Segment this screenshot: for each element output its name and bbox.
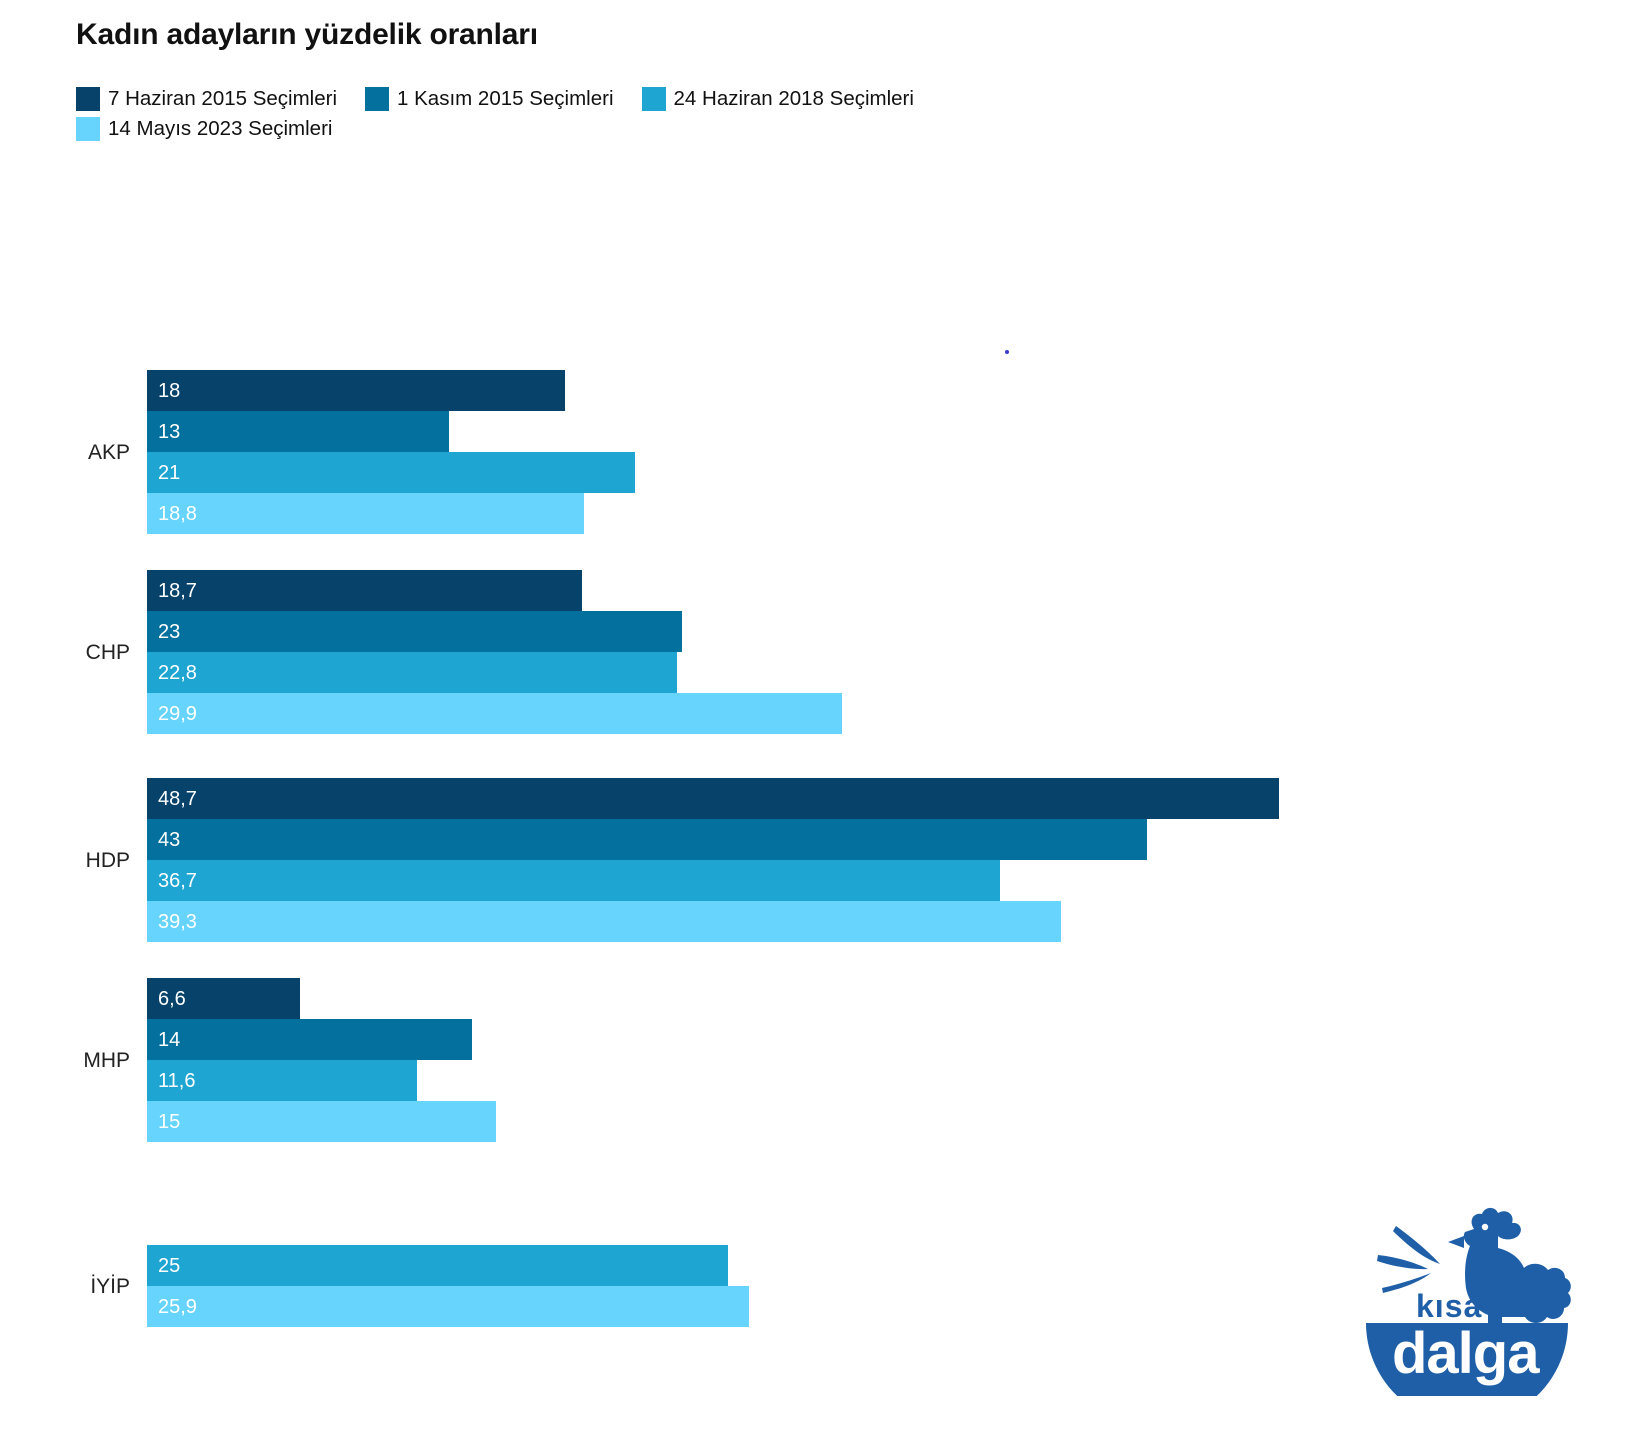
category-label-mhp: MHP bbox=[0, 1050, 130, 1071]
bar-akp-s3[interactable]: 18,8 bbox=[147, 493, 197, 534]
bar-value-label: 6,6 bbox=[147, 989, 186, 1009]
bar-hdp-s3[interactable]: 39,3 bbox=[147, 901, 197, 942]
bar-fill bbox=[147, 411, 449, 452]
bar-value-label: 21 bbox=[147, 463, 180, 483]
bar-value-label: 14 bbox=[147, 1030, 180, 1050]
bar-fill bbox=[147, 611, 682, 652]
bar-chp-s0[interactable]: 18,7 bbox=[147, 570, 197, 611]
bar-chp-s1[interactable]: 23 bbox=[147, 611, 197, 652]
bar-value-label: 15 bbox=[147, 1112, 180, 1132]
bar-chp-s2[interactable]: 22,8 bbox=[147, 652, 197, 693]
bar-fill bbox=[147, 819, 1147, 860]
bars-wrapper: 6,61411,615 bbox=[147, 978, 195, 1142]
logo-wordmark: kısa bbox=[1416, 1288, 1482, 1324]
bar-fill bbox=[147, 493, 584, 534]
category-label-akp: AKP bbox=[0, 442, 130, 463]
bar-akp-s0[interactable]: 18 bbox=[147, 370, 197, 411]
stray-dot-artifact bbox=[1005, 350, 1009, 354]
bar-fill bbox=[147, 1286, 749, 1327]
bar-fill bbox=[147, 1019, 472, 1060]
bar-hdp-s1[interactable]: 43 bbox=[147, 819, 197, 860]
bar-value-label: 13 bbox=[147, 422, 180, 442]
bar-value-label: 25,9 bbox=[147, 1297, 197, 1317]
bars-wrapper: 48,74336,739,3 bbox=[147, 778, 197, 942]
bar-value-label: 43 bbox=[147, 830, 180, 850]
bar-fill bbox=[147, 778, 1279, 819]
bar-hdp-s2[interactable]: 36,7 bbox=[147, 860, 197, 901]
bar-akp-s1[interactable]: 13 bbox=[147, 411, 197, 452]
bar-fill bbox=[147, 1101, 496, 1142]
bars-wrapper: 2525,9 bbox=[147, 1245, 197, 1327]
bar-value-label: 48,7 bbox=[147, 789, 197, 809]
bar-value-label: 18,8 bbox=[147, 504, 197, 524]
bar-hdp-s0[interactable]: 48,7 bbox=[147, 778, 197, 819]
bar-mhp-s0[interactable]: 6,6 bbox=[147, 978, 195, 1019]
category-label-chp: CHP bbox=[0, 642, 130, 663]
bar-fill bbox=[147, 1245, 728, 1286]
bar-fill bbox=[147, 693, 842, 734]
bar-value-label: 18,7 bbox=[147, 581, 197, 601]
bar-fill bbox=[147, 901, 1061, 942]
category-label-i̇yi̇p: İYİP bbox=[0, 1276, 130, 1297]
svg-text:dalga: dalga bbox=[1392, 1321, 1540, 1386]
bar-i̇yi̇p-s3[interactable]: 25,9 bbox=[147, 1286, 197, 1327]
bar-fill bbox=[147, 452, 635, 493]
bar-value-label: 29,9 bbox=[147, 704, 197, 724]
bar-value-label: 22,8 bbox=[147, 663, 197, 683]
bar-i̇yi̇p-s2[interactable]: 25 bbox=[147, 1245, 197, 1286]
bar-fill bbox=[147, 652, 677, 693]
logo-wordmark-main: dalga bbox=[1392, 1321, 1540, 1386]
bar-fill bbox=[147, 370, 565, 411]
bar-mhp-s1[interactable]: 14 bbox=[147, 1019, 195, 1060]
kisa-dalga-logo: kısa dalga bbox=[1352, 1196, 1582, 1396]
chart-container: Kadın adayların yüzdelik oranları 7 Hazi… bbox=[0, 0, 1641, 1429]
bar-fill bbox=[147, 860, 1000, 901]
bar-value-label: 25 bbox=[147, 1256, 180, 1276]
bar-value-label: 36,7 bbox=[147, 871, 197, 891]
bar-akp-s2[interactable]: 21 bbox=[147, 452, 197, 493]
svg-text:kısa: kısa bbox=[1416, 1288, 1482, 1324]
bar-fill bbox=[147, 570, 582, 611]
bar-value-label: 23 bbox=[147, 622, 180, 642]
bar-mhp-s3[interactable]: 15 bbox=[147, 1101, 195, 1142]
category-label-hdp: HDP bbox=[0, 850, 130, 871]
bar-mhp-s2[interactable]: 11,6 bbox=[147, 1060, 195, 1101]
bars-wrapper: 18132118,8 bbox=[147, 370, 197, 534]
bar-chp-s3[interactable]: 29,9 bbox=[147, 693, 197, 734]
bar-value-label: 18 bbox=[147, 381, 180, 401]
bar-value-label: 11,6 bbox=[147, 1071, 195, 1091]
bars-wrapper: 18,72322,829,9 bbox=[147, 570, 197, 734]
bar-value-label: 39,3 bbox=[147, 912, 197, 932]
